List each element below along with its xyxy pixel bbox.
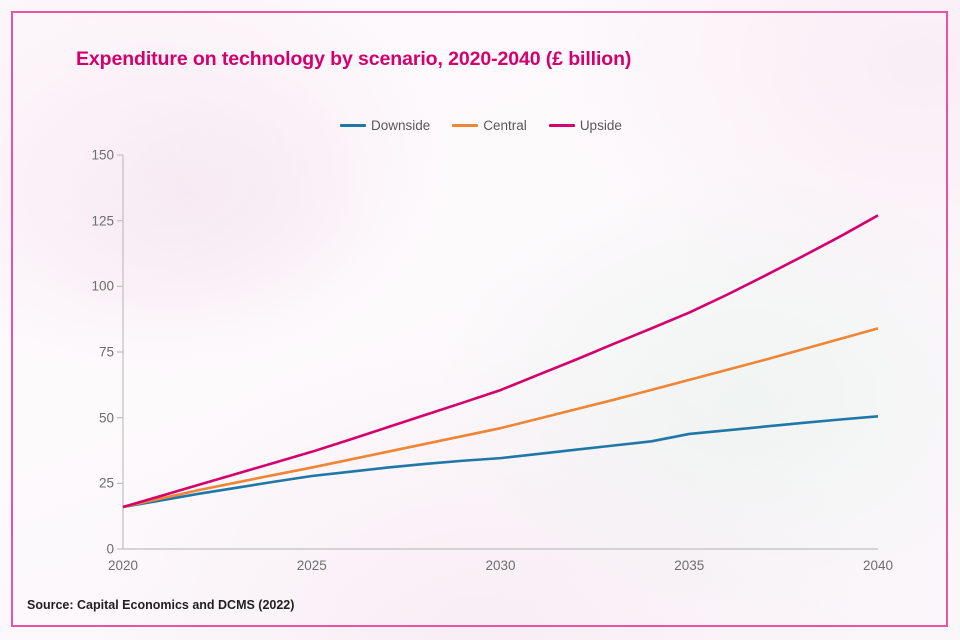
plot-area [0,0,960,640]
chart-figure: Expenditure on technology by scenario, 2… [0,0,960,640]
y-axis-tick-label: 0 [106,542,114,557]
source-note: Source: Capital Economics and DCMS (2022… [27,598,294,612]
y-axis-tick-label: 25 [99,476,114,491]
series-line-downside [123,416,878,507]
x-axis-tick-label: 2035 [674,558,704,573]
y-axis-tick-label: 50 [99,410,114,425]
y-axis-tick-label: 100 [91,279,114,294]
x-axis-tick-label: 2020 [108,558,138,573]
y-axis-tick-label: 125 [91,213,114,228]
x-axis-tick-label: 2025 [297,558,327,573]
y-axis-tick-label: 75 [99,345,114,360]
plot-canvas [0,0,960,640]
x-axis-tick-label: 2040 [863,558,893,573]
series-line-central [123,328,878,507]
x-axis-tick-label: 2030 [485,558,515,573]
y-axis-tick-label: 150 [91,148,114,163]
